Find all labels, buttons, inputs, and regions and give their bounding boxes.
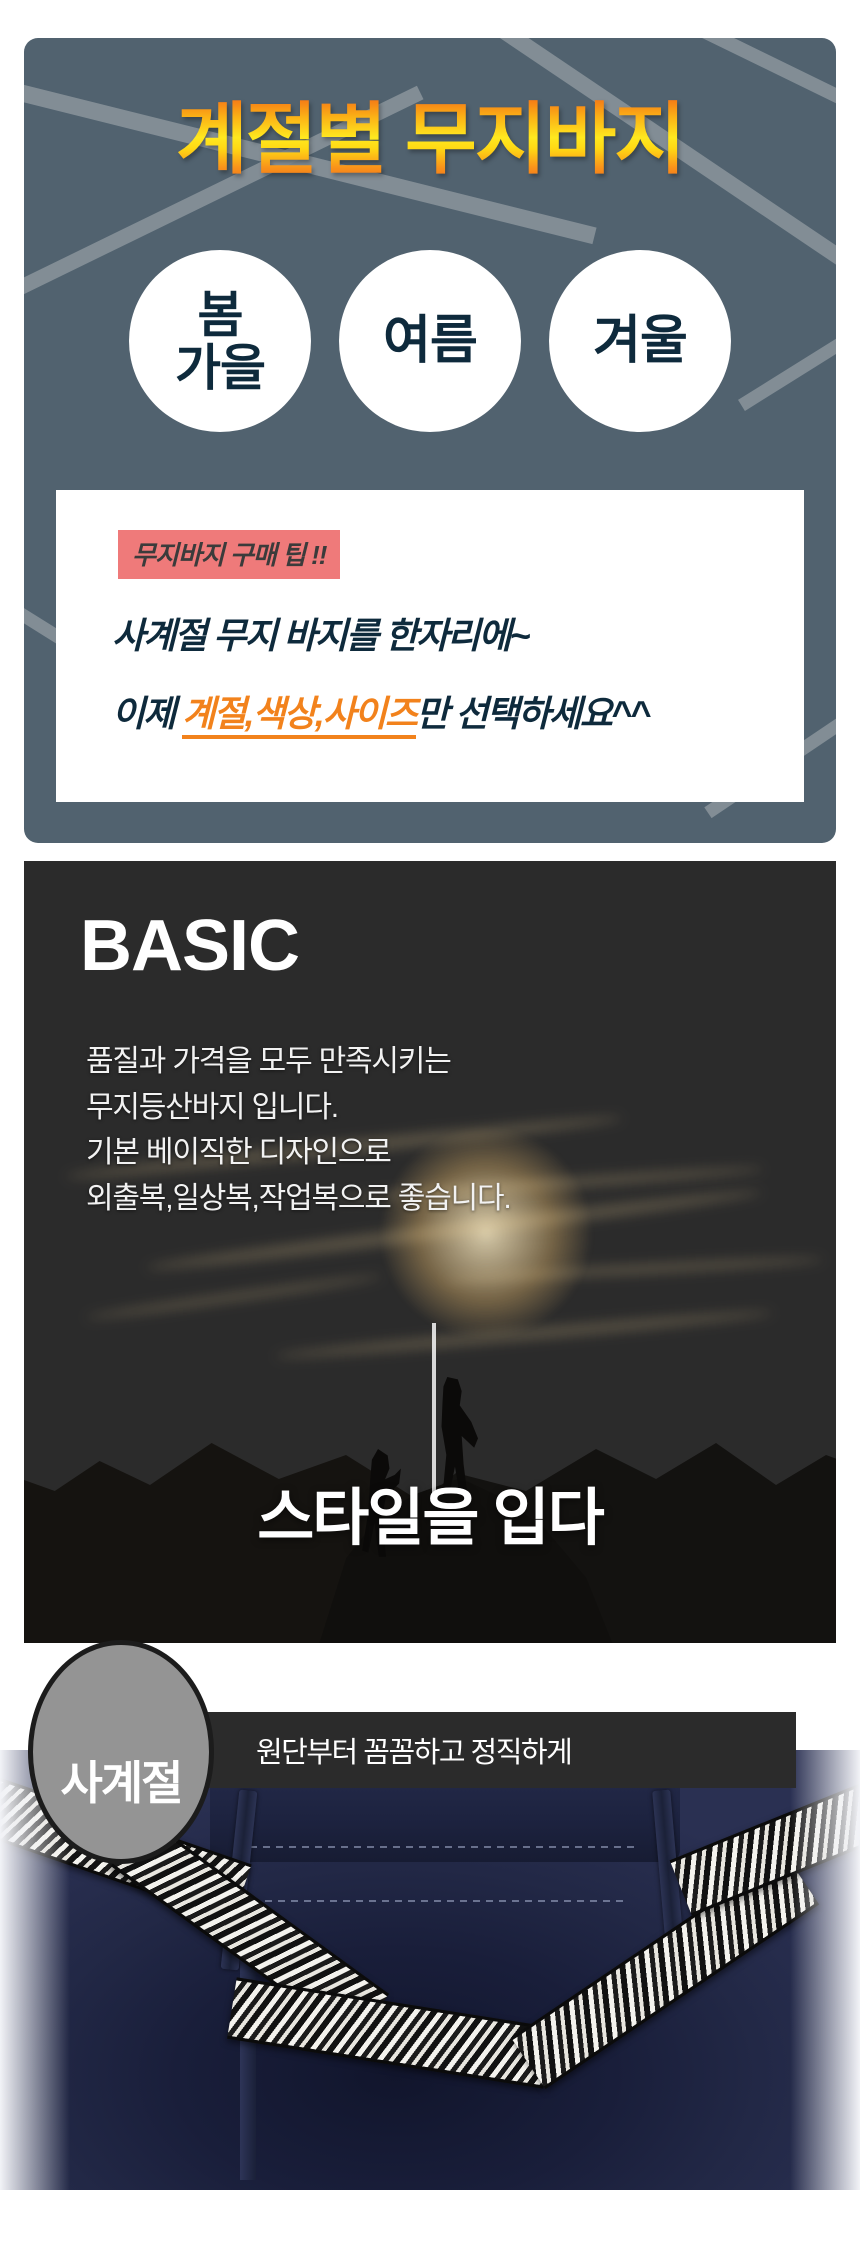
tip-line-2-prefix: 이제 [112, 693, 182, 734]
tip-line-2-highlight: 계절,색상,사이즈 [182, 693, 416, 739]
basic-heading: BASIC [80, 905, 299, 987]
purchase-tip-box: 무지바지 구매 팁 !! 사계절 무지 바지를 한자리에~ 이제 계절,색상,사… [56, 490, 804, 802]
season-label-fall: 가을 [175, 343, 265, 393]
photo-bottom-whitespace [0, 2190, 860, 2256]
belt-segment [511, 1853, 819, 2089]
four-season-badge-label: 사계절 [61, 1747, 182, 1813]
tip-badge: 무지바지 구매 팁 !! [118, 530, 340, 579]
description-line: 품질과 가격을 모두 만족시키는 [86, 1039, 511, 1085]
season-badge-winter[interactable]: 겨울 [549, 250, 731, 432]
description-line: 무지등산바지 입니다. [86, 1085, 511, 1131]
fabric-headline: 원단부터 꼼꼼하고 정직하게 [256, 1729, 571, 1771]
season-badge-spring-fall[interactable]: 봄 가을 [129, 250, 311, 432]
description-line: 외출복,일상복,작업복으로 좋습니다. [86, 1176, 511, 1222]
tip-line-2-suffix: 만 선택하세요^^ [416, 693, 649, 734]
photo-edge-fade-right [790, 1750, 860, 2190]
page-title: 계절별 무지바지 [24, 100, 836, 178]
tip-line-2: 이제 계절,색상,사이즈만 선택하세요^^ [112, 685, 804, 737]
season-label-spring: 봄 [198, 290, 243, 340]
description-line: 기본 베이직한 디자인으로 [86, 1130, 511, 1176]
season-label-winter: 겨울 [593, 315, 687, 367]
basic-description: 품질과 가격을 모두 만족시키는 무지등산바지 입니다. 기본 베이직한 디자인… [86, 1039, 511, 1221]
belt-segment [227, 1977, 553, 2088]
basic-slogan: 스타일을 입다 [24, 1467, 836, 1557]
season-selector: 봄 가을 여름 겨울 [24, 250, 836, 432]
four-season-badge: 사계절 [28, 1640, 214, 1864]
tip-line-1: 사계절 무지 바지를 한자리에~ [112, 607, 804, 659]
basic-section: BASIC 품질과 가격을 모두 만족시키는 무지등산바지 입니다. 기본 베이… [24, 861, 836, 1643]
season-badge-summer[interactable]: 여름 [339, 250, 521, 432]
season-label-summer: 여름 [383, 315, 477, 367]
hero-panel: 계절별 무지바지 봄 가을 여름 겨울 무지바지 구매 팁 !! 사계절 무지 … [24, 38, 836, 843]
product-detail-page: 계절별 무지바지 봄 가을 여름 겨울 무지바지 구매 팁 !! 사계절 무지 … [0, 0, 860, 2256]
